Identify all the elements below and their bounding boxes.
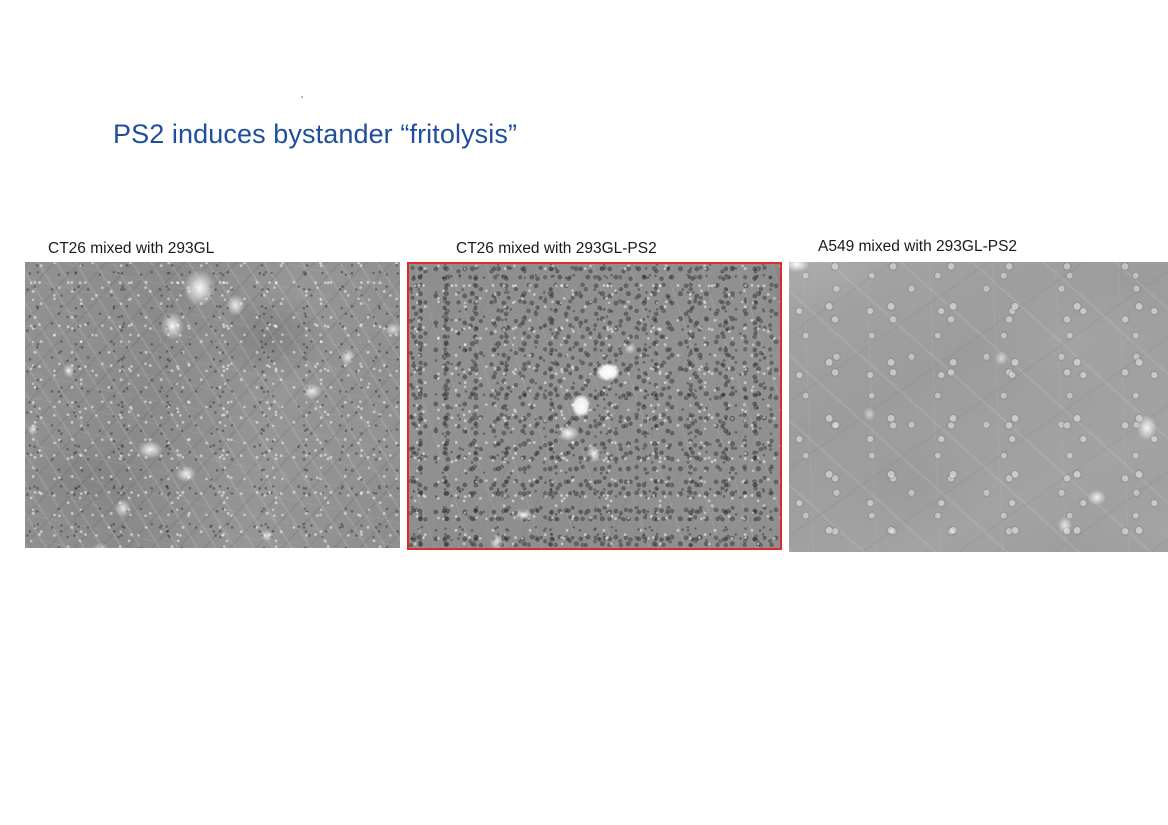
micrograph-ct26-293gl[interactable] (25, 262, 400, 548)
micrograph-bright-cells-layer (789, 262, 1168, 552)
panel-caption-a549-293gl-ps2: A549 mixed with 293GL-PS2 (818, 238, 1017, 256)
micrograph-bright-cells-layer (25, 262, 400, 548)
micrograph-ct26-293gl-ps2[interactable] (407, 262, 782, 550)
panel-caption-ct26-293gl-ps2: CT26 mixed with 293GL-PS2 (456, 240, 657, 258)
slide-canvas: PS2 induces bystander “fritolysis” CT26 … (0, 0, 1168, 825)
micrograph-a549-293gl-ps2[interactable] (789, 262, 1168, 552)
panel-caption-ct26-293gl: CT26 mixed with 293GL (48, 240, 214, 258)
stray-dot-artifact (301, 96, 303, 98)
page-title: PS2 induces bystander “fritolysis” (113, 119, 517, 150)
micrograph-bright-debris-layer (407, 262, 782, 550)
